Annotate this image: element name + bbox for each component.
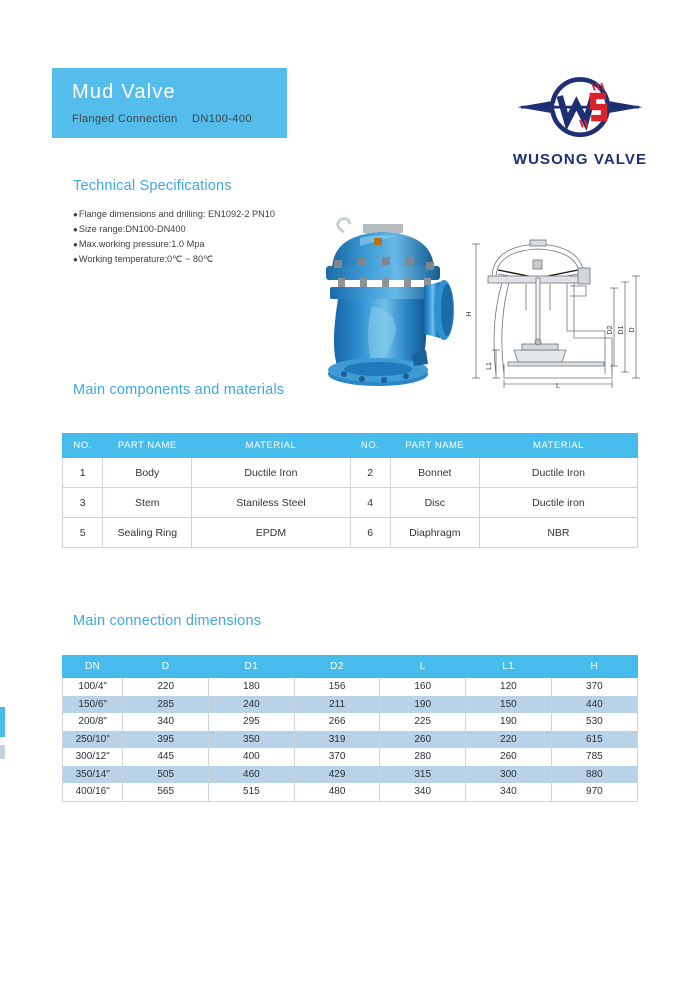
connection-type: Flanged Connection [72,113,192,125]
materials-col-header: MATERIAL [192,434,350,458]
table-cell: Stem [103,488,192,518]
page-title: Mud Valve [72,80,287,104]
table-cell: 340 [466,783,552,801]
wusong-valve-logo-icon [497,72,663,144]
spec-text: Max.working pressure:1.0 Mpa [79,239,205,249]
table-cell: 429 [294,766,380,784]
spec-text: Working temperature:0℃ ~ 80℃ [79,254,214,264]
table-cell: NBR [479,518,637,548]
table-row: 300/12" 445 400 370 280 260 785 [63,748,638,766]
table-cell: 220 [123,678,209,696]
heading-main-dimensions: Main connection dimensions [73,613,261,629]
table-cell: 100/4" [63,678,123,696]
table-cell: 370 [551,678,637,696]
table-row: 100/4" 220 180 156 160 120 370 [63,678,638,696]
table-cell: Staniless Steel [192,488,350,518]
table-row: 200/8" 340 295 266 225 190 530 [63,713,638,731]
spec-item: ●Working temperature:0℃ ~ 80℃ [73,252,333,267]
table-row: 5 Sealing Ring EPDM 6 Diaphragm NBR [63,518,638,548]
dimensions-col-header: D2 [294,656,380,678]
table-cell: 350/14" [63,766,123,784]
table-cell: 220 [466,731,552,749]
table-cell: Diaphragm [390,518,479,548]
spec-item: ●Max.working pressure:1.0 Mpa [73,237,333,252]
table-cell: 440 [551,696,637,714]
bullet-icon: ● [73,225,78,234]
dimensions-col-header: L1 [466,656,552,678]
logo-wordmark: WUSONG VALVE [495,151,665,168]
table-cell: 300 [466,766,552,784]
table-cell: Disc [390,488,479,518]
table-cell: 156 [294,678,380,696]
table-cell: 120 [466,678,552,696]
materials-table: NO. PART NAME MATERIAL NO. PART NAME MAT… [62,433,638,548]
heading-main-components: Main components and materials [73,382,284,398]
table-cell: 480 [294,783,380,801]
heading-technical-specifications: Technical Specifications [73,178,232,194]
bullet-icon: ● [73,240,78,249]
table-cell: 1 [63,458,103,488]
spec-text: Flange dimensions and drilling: EN1092-2… [79,209,275,219]
table-cell: 785 [551,748,637,766]
table-cell: 150 [466,696,552,714]
table-cell: 200/8" [63,713,123,731]
bullet-icon: ● [73,255,78,264]
table-cell: Bonnet [390,458,479,488]
table-cell: 565 [123,783,209,801]
valve-cross-section-drawing: H L1 D2 D1 D L [462,238,654,388]
table-cell: 530 [551,713,637,731]
table-cell: 880 [551,766,637,784]
materials-col-header: MATERIAL [479,434,637,458]
table-cell: 350 [209,731,295,749]
callout-D1: D1 [618,325,625,334]
table-cell: 160 [380,678,466,696]
table-cell: 505 [123,766,209,784]
table-cell: EPDM [192,518,350,548]
table-cell: 150/6" [63,696,123,714]
callout-H: H [466,311,473,316]
callout-L: L [556,383,560,388]
spec-item: ●Flange dimensions and drilling: EN1092-… [73,207,333,222]
table-cell: 460 [209,766,295,784]
table-cell: 225 [380,713,466,731]
table-cell: 190 [466,713,552,731]
edge-tab-grey [0,745,5,759]
table-cell: 445 [123,748,209,766]
mud-valve-photo [300,208,475,393]
table-row: 400/16" 565 515 480 340 340 970 [63,783,638,801]
title-subrow: Flanged Connection DN100-400 [72,113,287,125]
callout-L1: L1 [486,362,493,370]
table-cell: 285 [123,696,209,714]
table-cell: 2 [350,458,390,488]
table-cell: 266 [294,713,380,731]
materials-col-header: PART NAME [390,434,479,458]
table-cell: 340 [123,713,209,731]
table-cell: 315 [380,766,466,784]
table-cell: 211 [294,696,380,714]
table-cell: 280 [380,748,466,766]
materials-col-header: PART NAME [103,434,192,458]
table-cell: 370 [294,748,380,766]
title-banner: Mud Valve Flanged Connection DN100-400 [52,68,287,138]
table-cell: 4 [350,488,390,518]
table-cell: 295 [209,713,295,731]
table-cell: 6 [350,518,390,548]
table-cell: 240 [209,696,295,714]
spec-text: Size range:DN100-DN400 [79,224,186,234]
specification-list: ●Flange dimensions and drilling: EN1092-… [73,207,333,267]
bullet-icon: ● [73,210,78,219]
table-cell: 260 [466,748,552,766]
table-cell: 5 [63,518,103,548]
callout-D: D [629,327,636,332]
table-cell: Body [103,458,192,488]
table-cell: 340 [380,783,466,801]
table-row: 350/14" 505 460 429 315 300 880 [63,766,638,784]
table-row: 250/10" 395 350 319 260 220 615 [63,731,638,749]
table-cell: 515 [209,783,295,801]
dimensions-col-header: H [551,656,637,678]
dimensions-col-header: L [380,656,466,678]
table-cell: 3 [63,488,103,518]
table-row: 1 Body Ductile Iron 2 Bonnet Ductile Iro… [63,458,638,488]
table-cell: 180 [209,678,295,696]
company-logo: WUSONG VALVE [495,72,665,168]
callout-D2: D2 [607,325,614,334]
dimensions-col-header: D1 [209,656,295,678]
table-cell: 395 [123,731,209,749]
table-row: 3 Stem Staniless Steel 4 Disc Ductile ir… [63,488,638,518]
size-code: DN100-400 [192,113,252,125]
table-cell: 615 [551,731,637,749]
edge-tab-cyan [0,707,5,737]
table-cell: Ductile iron [479,488,637,518]
table-cell: 400 [209,748,295,766]
table-row: 150/6" 285 240 211 190 150 440 [63,696,638,714]
spec-item: ●Size range:DN100-DN400 [73,222,333,237]
dimensions-col-header: DN [63,656,123,678]
table-cell: 260 [380,731,466,749]
table-cell: 250/10" [63,731,123,749]
table-cell: Ductile Iron [479,458,637,488]
materials-col-header: NO. [63,434,103,458]
table-cell: Sealing Ring [103,518,192,548]
table-cell: Ductile Iron [192,458,350,488]
table-cell: 300/12" [63,748,123,766]
materials-header-row: NO. PART NAME MATERIAL NO. PART NAME MAT… [63,434,638,458]
dimensions-header-row: DN D D1 D2 L L1 H [63,656,638,678]
table-cell: 190 [380,696,466,714]
dimensions-col-header: D [123,656,209,678]
materials-col-header: NO. [350,434,390,458]
table-cell: 970 [551,783,637,801]
dimensions-table: DN D D1 D2 L L1 H 100/4" 220 180 156 160… [62,655,638,802]
table-cell: 319 [294,731,380,749]
table-cell: 400/16" [63,783,123,801]
